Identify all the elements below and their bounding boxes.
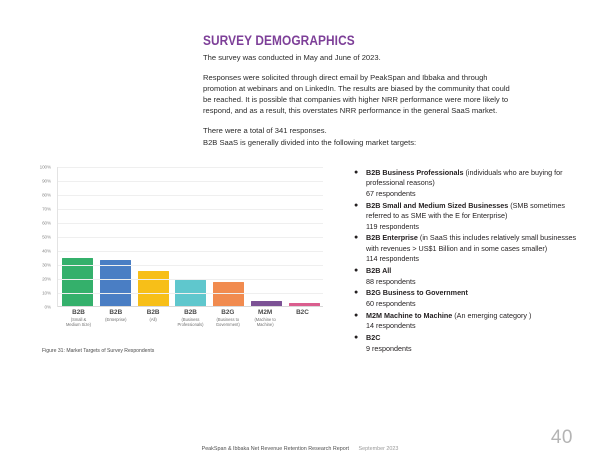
y-axis-tick: 30% (42, 263, 51, 268)
gridline (58, 293, 323, 294)
x-axis-label: M2M(Machine to Machine) (248, 309, 283, 327)
bullet-icon: ● (352, 266, 366, 276)
x-axis-label-main: B2B (173, 309, 208, 317)
gridline (58, 181, 323, 182)
y-axis-tick: 10% (42, 291, 51, 296)
list-item-detail: (An emerging category ) (452, 311, 531, 320)
gridline (58, 237, 323, 238)
list-item: ●B2B Enterprise (in SaaS this includes r… (352, 233, 584, 264)
list-item-title: M2M Machine to Machine (366, 311, 452, 320)
y-axis-tick: 80% (42, 193, 51, 198)
list-item: ●B2B Business Professionals (individuals… (352, 168, 584, 199)
x-axis-label-main: B2C (285, 309, 320, 317)
list-item-respondents: 114 respondents (366, 254, 584, 264)
x-axis-label-main: B2B (98, 309, 133, 317)
list-item-text: B2B Business Professionals (individuals … (366, 168, 584, 199)
x-axis-label-sub: (Small & Medium Size) (61, 317, 96, 327)
bullet-icon: ● (352, 168, 366, 178)
intro-paragraph-1: The survey was conducted in May and June… (203, 52, 515, 63)
list-item: ●B2C9 respondents (352, 333, 584, 354)
x-axis-label-sub: (All) (136, 317, 171, 322)
list-item-respondents: 88 respondents (366, 277, 584, 287)
y-axis-tick: 40% (42, 249, 51, 254)
list-item: ●B2B Small and Medium Sized Businesses (… (352, 201, 584, 232)
gridline (58, 279, 323, 280)
x-axis-label: B2B(Business Professionals) (173, 309, 208, 327)
chart-plot-area: 100%90%80%70%60%50%40%30%20%10%0% B2B(Sm… (28, 167, 323, 307)
x-axis-label: B2B(Enterprise) (98, 309, 133, 327)
x-axis-label-main: B2B (61, 309, 96, 317)
page-title: SURVEY DEMOGRAPHICS (203, 33, 478, 48)
intro-paragraph-4: B2B SaaS is generally divided into the f… (203, 137, 515, 148)
list-item: ●B2G Business to Government60 respondent… (352, 288, 584, 309)
plot (57, 167, 323, 307)
list-item-title: B2G Business to Government (366, 288, 468, 297)
y-axis-tick: 50% (42, 235, 51, 240)
x-axis-label-sub: (Business Professionals) (173, 317, 208, 327)
market-target-bullet-list: ●B2B Business Professionals (individuals… (352, 168, 584, 355)
list-item-text: B2G Business to Government60 respondents (366, 288, 584, 309)
x-axis-label: B2B(Small & Medium Size) (61, 309, 96, 327)
y-axis-tick: 60% (42, 221, 51, 226)
list-item-respondents: 67 respondents (366, 189, 584, 199)
gridline (58, 195, 323, 196)
list-item-respondents: 9 respondents (366, 344, 584, 354)
bar (213, 282, 244, 307)
figure-caption: Figure 31: Market Targets of Survey Resp… (42, 348, 154, 354)
list-item: ●B2B All88 respondents (352, 266, 584, 287)
x-axis-label-main: B2B (136, 309, 171, 317)
list-item-text: B2C9 respondents (366, 333, 584, 354)
bullet-icon: ● (352, 201, 366, 211)
gridline (58, 251, 323, 252)
list-item-title: B2B Business Professionals (366, 168, 463, 177)
gridline (58, 265, 323, 266)
gridline (58, 306, 323, 307)
bullet-icon: ● (352, 311, 366, 321)
list-item-text: M2M Machine to Machine (An emerging cate… (366, 311, 584, 332)
x-axis-labels: B2B(Small & Medium Size)B2B(Enterprise)B… (57, 309, 323, 327)
intro-paragraph-3: There were a total of 341 responses. (203, 125, 515, 136)
list-item-title: B2C (366, 333, 380, 342)
gridline (58, 167, 323, 168)
x-axis-label: B2B(All) (136, 309, 171, 327)
x-axis-label: B2G(Business to Government) (210, 309, 245, 327)
bar (100, 260, 131, 307)
list-item-text: B2B Enterprise (in SaaS this includes re… (366, 233, 584, 264)
list-item-respondents: 14 respondents (366, 321, 584, 331)
list-item-respondents: 60 respondents (366, 299, 584, 309)
gridline (58, 209, 323, 210)
x-axis-label-sub: (Business to Government) (210, 317, 245, 327)
list-item-title: B2B Enterprise (366, 233, 418, 242)
x-axis-label-sub: (Machine to Machine) (248, 317, 283, 327)
list-item-title: B2B Small and Medium Sized Businesses (366, 201, 508, 210)
market-targets-bar-chart: 100%90%80%70%60%50%40%30%20%10%0% B2B(Sm… (28, 167, 323, 367)
bullet-icon: ● (352, 288, 366, 298)
y-axis-tick: 90% (42, 179, 51, 184)
list-item-respondents: 119 respondents (366, 222, 584, 232)
bullet-icon: ● (352, 233, 366, 243)
intro-paragraph-2: Responses were solicited through direct … (203, 72, 515, 116)
footer: PeakSpan & Ibbaka Net Revenue Retention … (0, 446, 600, 452)
y-axis-tick: 0% (45, 305, 51, 310)
footer-report-name: PeakSpan & Ibbaka Net Revenue Retention … (202, 446, 349, 452)
bullet-icon: ● (352, 333, 366, 343)
list-item-text: B2B All88 respondents (366, 266, 584, 287)
list-item-text: B2B Small and Medium Sized Businesses (S… (366, 201, 584, 232)
y-axis-tick: 70% (42, 207, 51, 212)
page-number: 40 (551, 427, 573, 449)
y-axis-tick: 20% (42, 277, 51, 282)
x-axis-label: B2C (285, 309, 320, 327)
bar (138, 271, 169, 307)
intro-block: SURVEY DEMOGRAPHICS The survey was condu… (203, 33, 515, 148)
footer-date: September 2023 (359, 446, 399, 452)
x-axis-label-sub: (Enterprise) (98, 317, 133, 322)
x-axis-label-main: B2G (210, 309, 245, 317)
list-item: ●M2M Machine to Machine (An emerging cat… (352, 311, 584, 332)
x-axis-label-main: M2M (248, 309, 283, 317)
list-item-title: B2B All (366, 266, 391, 275)
gridline (58, 223, 323, 224)
y-axis-tick: 100% (40, 165, 51, 170)
y-axis: 100%90%80%70%60%50%40%30%20%10%0% (28, 167, 54, 307)
